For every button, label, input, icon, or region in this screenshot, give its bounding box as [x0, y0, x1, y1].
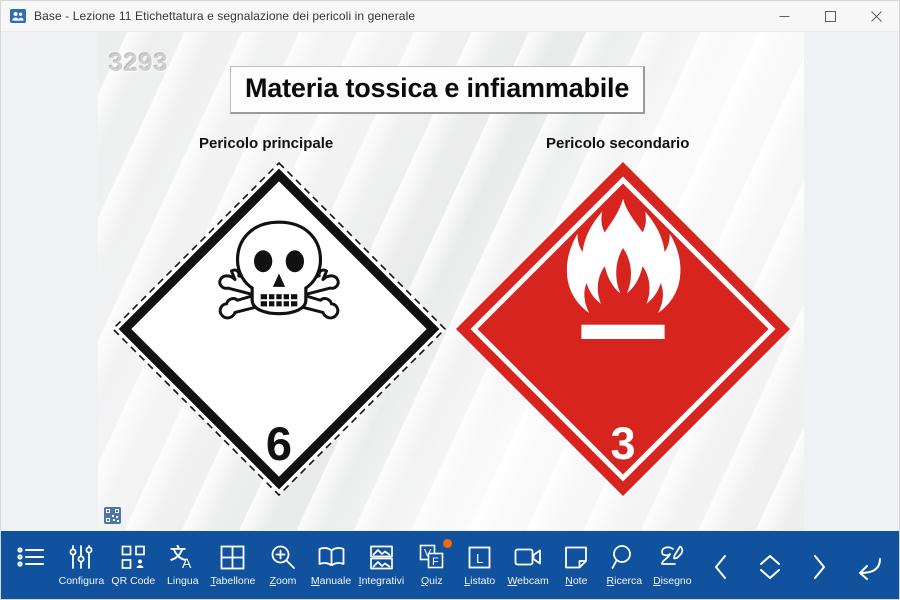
- book-icon: [318, 541, 345, 573]
- app-window: Base - Lezione 11 Etichettatura e segnal…: [0, 0, 900, 600]
- next-button[interactable]: [795, 539, 844, 595]
- primary-hazard-label: Pericolo principale: [199, 135, 333, 152]
- previous-button[interactable]: [696, 539, 745, 595]
- bottom-toolbar: Configura QR Code 文 A Lingu: [1, 531, 899, 599]
- chevron-right-icon: [809, 553, 829, 581]
- configura-button[interactable]: Configura: [55, 539, 108, 595]
- chevron-updown-icon: [757, 553, 783, 581]
- hazard-placard-class-3: 3: [450, 156, 796, 502]
- note-button[interactable]: Note: [552, 539, 600, 595]
- updown-button[interactable]: [746, 539, 795, 595]
- back-button[interactable]: [844, 539, 893, 595]
- lingua-label: Lingua: [167, 575, 199, 587]
- zoom-in-icon: [270, 541, 296, 573]
- class-number-3: 3: [610, 418, 635, 469]
- pen-icon: [659, 541, 685, 573]
- manuale-button[interactable]: Manuale: [307, 539, 355, 595]
- listato-button[interactable]: L Listato: [456, 539, 504, 595]
- quiz-button[interactable]: V F Quiz: [408, 539, 456, 595]
- content-area: 3293 Materia tossica e infiammabile Peri…: [1, 32, 899, 531]
- svg-text:F: F: [432, 556, 439, 568]
- disegno-button[interactable]: Disegno: [648, 539, 696, 595]
- tabellone-label: Tabellone: [210, 575, 255, 587]
- images-icon: [369, 541, 394, 573]
- chevron-left-icon: [711, 553, 731, 581]
- window-controls: [761, 1, 899, 32]
- slide-number: 3293: [109, 49, 169, 78]
- tabellone-button[interactable]: Tabellone: [207, 539, 259, 595]
- configura-label: Configura: [59, 575, 105, 587]
- maximize-button[interactable]: [807, 1, 853, 32]
- list-icon: [17, 541, 45, 573]
- webcam-button[interactable]: Webcam: [504, 539, 553, 595]
- translate-icon: 文 A: [169, 541, 196, 573]
- close-button[interactable]: [853, 1, 899, 32]
- qr-code-label: QR Code: [111, 575, 155, 587]
- zoom-label: Zoom: [270, 575, 297, 587]
- disegno-label: Disegno: [653, 575, 692, 587]
- grid-icon: [220, 541, 245, 573]
- zoom-button[interactable]: Zoom: [259, 539, 307, 595]
- svg-text:L: L: [476, 551, 483, 566]
- slide-title: Materia tossica e infiammabile: [245, 73, 629, 103]
- webcam-label: Webcam: [507, 575, 548, 587]
- svg-text:A: A: [182, 555, 192, 570]
- ricerca-label: Ricerca: [607, 575, 643, 587]
- hazard-placard-class-6: 6: [106, 156, 452, 502]
- return-arrow-icon: [853, 554, 883, 580]
- qr-code-button[interactable]: QR Code: [108, 539, 159, 595]
- class-number-6: 6: [266, 417, 292, 470]
- menu-list-button[interactable]: [7, 539, 55, 595]
- manuale-label: Manuale: [311, 575, 351, 587]
- quiz-label: Quiz: [421, 575, 443, 587]
- slide-canvas[interactable]: 3293 Materia tossica e infiammabile Peri…: [98, 32, 804, 530]
- qr-code-icon: [121, 541, 146, 573]
- qr-watermark-icon: [104, 507, 121, 524]
- vf-quiz-icon: V F: [419, 541, 445, 573]
- integrativi-label: Integrativi: [359, 575, 405, 587]
- listato-label: Listato: [464, 575, 495, 587]
- sliders-icon: [68, 541, 94, 573]
- secondary-hazard-label: Pericolo secondario: [546, 135, 689, 152]
- letter-l-icon: L: [467, 541, 492, 573]
- note-icon: [564, 541, 588, 573]
- title-bar: Base - Lezione 11 Etichettatura e segnal…: [1, 1, 899, 32]
- minimize-button[interactable]: [761, 1, 807, 32]
- window-title: Base - Lezione 11 Etichettatura e segnal…: [34, 9, 415, 23]
- note-label: Note: [565, 575, 587, 587]
- quiz-notification-badge: [443, 539, 452, 548]
- people-icon: [10, 8, 26, 24]
- integrativi-button[interactable]: Integrativi: [355, 539, 408, 595]
- slide-title-box: Materia tossica e infiammabile: [230, 66, 645, 114]
- ricerca-button[interactable]: Ricerca: [600, 539, 648, 595]
- lingua-button[interactable]: 文 A Lingua: [159, 539, 207, 595]
- webcam-icon: [514, 541, 542, 573]
- search-icon: [611, 541, 637, 573]
